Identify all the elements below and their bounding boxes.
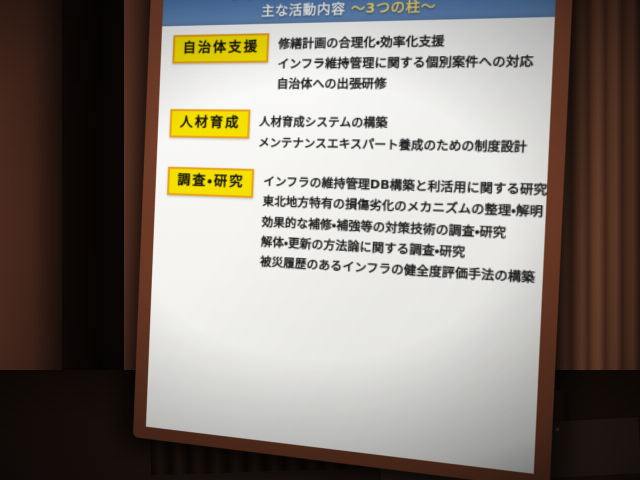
section-lines-1: 修繕計画の合理化・効率化支援 インフラ維持管理に関する個別案件への対応 自治体へ…	[267, 26, 542, 94]
slide-section-chosa-kenkyu: 調査・研究 インフラの維持管理DB構築と利活用に関する研究 東北地方特有の損傷劣…	[164, 166, 535, 289]
section-tag-1: 自治体支援	[172, 33, 269, 63]
section-lines-3: インフラの維持管理DB構築と利活用に関する研究 東北地方特有の損傷劣化のメカニズ…	[250, 168, 548, 289]
bullet-line: メンテナンスエキスパート養成のための制度設計	[258, 133, 537, 161]
auditorium-scene: ンフラマネジメント研究センター 主な活動内容 ～3つの柱～ 自治体支援 修繕計画…	[0, 0, 640, 480]
section-tag-3: 調査・研究	[167, 167, 255, 198]
slide-body: 自治体支援 修繕計画の合理化・効率化支援 インフラ維持管理に関する個別案件への対…	[146, 17, 555, 474]
slide-subtitle-text: 主な活動内容	[261, 0, 351, 18]
slide-subtitle-accent: ～3つの柱～	[351, 0, 437, 17]
bullet-line: 自治体への出張研修	[276, 73, 539, 95]
presentation-slide: ンフラマネジメント研究センター 主な活動内容 ～3つの柱～ 自治体支援 修繕計画…	[146, 0, 557, 474]
section-tag-2: 人材育成	[169, 109, 250, 139]
projection-screen: ンフラマネジメント研究センター 主な活動内容 ～3つの柱～ 自治体支援 修繕計画…	[133, 0, 574, 480]
screen-surface: ンフラマネジメント研究センター 主な活動内容 ～3つの柱～ 自治体支援 修繕計画…	[146, 0, 557, 474]
bullet-line: インフラ維持管理に関する個別案件への対応	[277, 52, 541, 75]
section-lines-2: 人材育成システムの構築 メンテナンスエキスパート養成のための制度設計	[249, 108, 538, 160]
slide-section-jinzai-ikusei: 人材育成 人材育成システムの構築 メンテナンスエキスパート養成のための制度設計	[169, 108, 538, 161]
indicator-light	[556, 428, 559, 431]
slide-section-jichitai-shien: 自治体支援 修繕計画の合理化・効率化支援 インフラ維持管理に関する個別案件への対…	[171, 26, 542, 94]
